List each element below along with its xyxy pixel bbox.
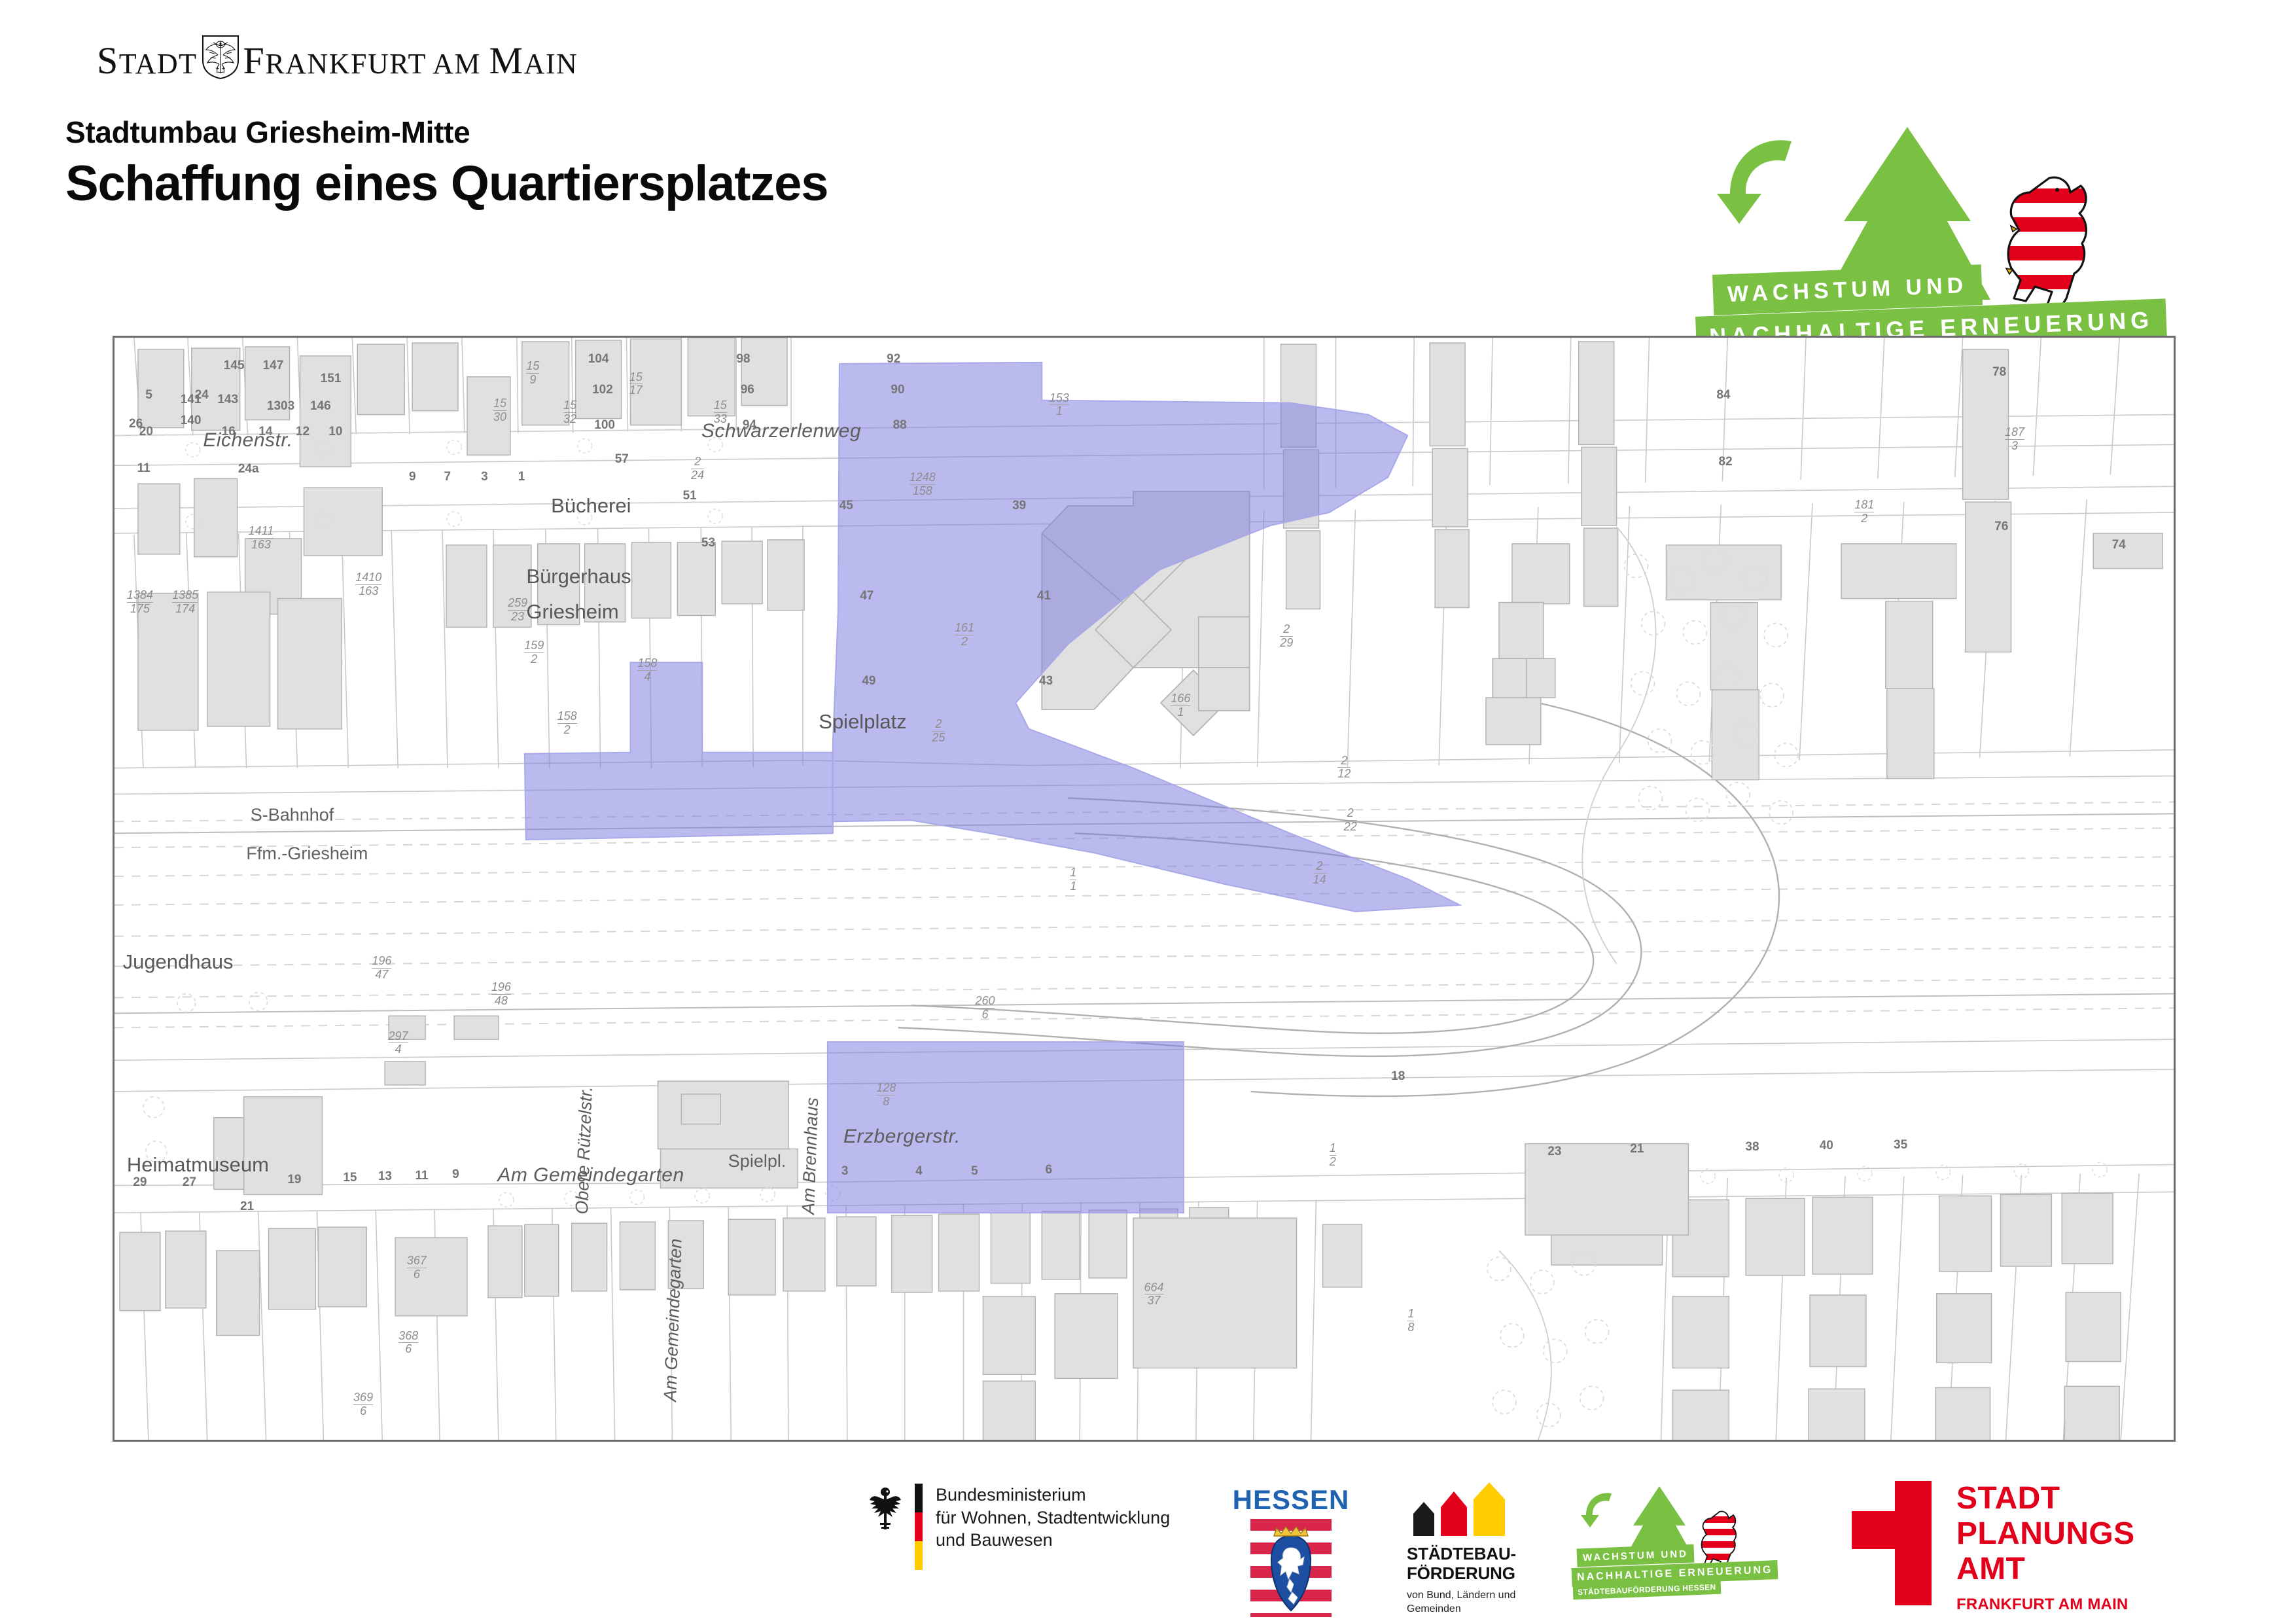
staedtebau-sub-2: Gemeinden xyxy=(1407,1603,1557,1616)
city-logo-word-stadt: STADT xyxy=(97,42,198,80)
logo-hessen: HESSEN xyxy=(1229,1486,1353,1617)
three-houses-icon xyxy=(1407,1482,1557,1536)
logo-bundesministerium-text: Bundesministerium für Wohnen, Stadtentwi… xyxy=(936,1484,1170,1552)
logo-stadtplanungsamt: STADT PLANUNGS AMT FRANKFURT AM MAIN xyxy=(1852,1481,2135,1614)
cadastral-map[interactable]: Eichenstr. Schwarzerlenweg Am Gemeindega… xyxy=(113,336,2176,1442)
page-title: Schaffung eines Quartiersplatzes xyxy=(65,157,828,211)
german-flag-bar-icon xyxy=(915,1484,923,1570)
hessen-coat-of-arms-icon xyxy=(1250,1519,1332,1617)
staedtebau-line-2: FÖRDERUNG xyxy=(1407,1564,1557,1584)
staedtebau-line-1: STÄDTEBAU- xyxy=(1407,1544,1557,1564)
staedtebau-sub-1: von Bund, Ländern und xyxy=(1407,1589,1557,1603)
headline-block: Stadtumbau Griesheim-Mitte Schaffung ein… xyxy=(65,116,828,211)
project-area-highlight xyxy=(115,338,2174,1440)
stadt-frankfurt-logo: STADT FRANKFURT AM MAIN xyxy=(97,34,516,80)
logo-bundesministerium: Bundesministerium für Wohnen, Stadtentwi… xyxy=(864,1484,1170,1570)
project-subtitle: Stadtumbau Griesheim-Mitte xyxy=(65,116,828,148)
funding-logo-bar: Bundesministerium für Wohnen, Stadtentwi… xyxy=(0,1469,2296,1623)
bmwsb-line-1: Bundesministerium xyxy=(936,1484,1170,1507)
spa-line-1: STADT xyxy=(1956,1481,2135,1516)
logo-stadtplanungsamt-text: STADT PLANUNGS AMT FRANKFURT AM MAIN xyxy=(1956,1481,2135,1614)
logo-wachstum-nachhaltige-erneuerung: WACHSTUM UND NACHHALTIGE ERNEUERUNG STÄD… xyxy=(1577,1481,1773,1605)
spa-line-2: PLANUNGS xyxy=(1956,1516,2135,1552)
stadtplanungsamt-mark-icon xyxy=(1852,1481,1932,1605)
bmwsb-line-3: und Bauwesen xyxy=(936,1529,1170,1552)
city-logo-word-frankfurt-am-main: FRANKFURT AM MAIN xyxy=(243,42,578,80)
spa-line-3: AMT xyxy=(1956,1552,2135,1587)
federal-eagle-icon xyxy=(864,1484,907,1533)
logo-staedtebaufoerderung: STÄDTEBAU- FÖRDERUNG von Bund, Ländern u… xyxy=(1407,1482,1557,1616)
frankfurt-eagle-crest-icon xyxy=(200,34,241,80)
hessen-label: HESSEN xyxy=(1229,1486,1353,1514)
spa-subline: FRANKFURT AM MAIN xyxy=(1956,1596,2135,1614)
bmwsb-line-2: für Wohnen, Stadtentwicklung xyxy=(936,1507,1170,1529)
hessen-lion-icon xyxy=(1989,170,2100,321)
